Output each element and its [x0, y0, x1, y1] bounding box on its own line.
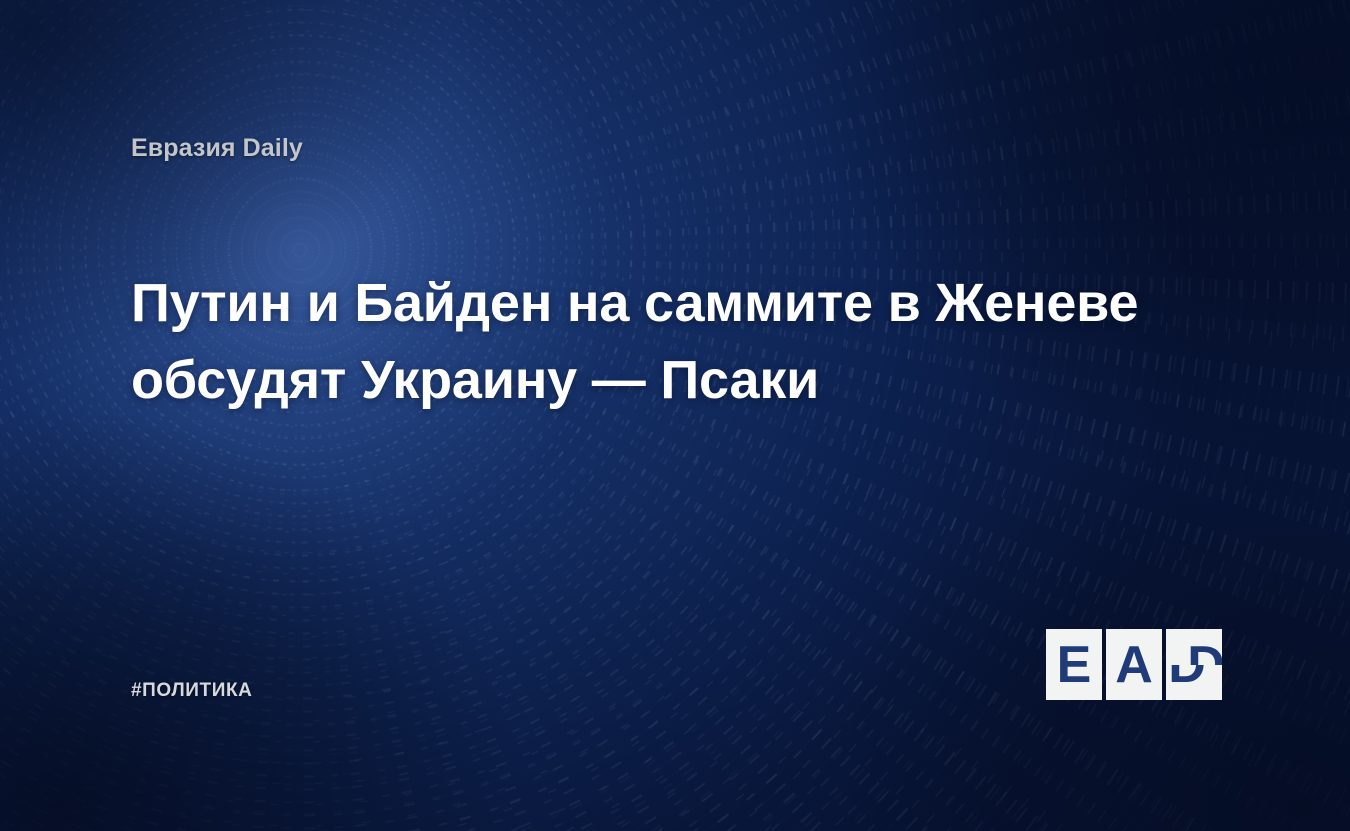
news-share-card: Евразия Daily Путин и Байден на саммите …	[0, 0, 1350, 831]
ead-logo[interactable]: E A D D	[1046, 629, 1223, 700]
headline-line-1: Путин и Байден на саммите в Женеве	[131, 265, 1191, 342]
logo-letter-e: E	[1046, 629, 1102, 700]
brand-name: Евразия Daily	[131, 136, 303, 161]
logo-letter-d-bottom-half: D	[1166, 665, 1222, 701]
category-hashtag[interactable]: #ПОЛИТИКА	[131, 681, 253, 700]
logo-letter-d-top-half: D	[1166, 629, 1222, 665]
logo-letter-d-upper: D	[1178, 629, 1222, 665]
page-title: Путин и Байден на саммите в Женеве обсуд…	[131, 265, 1191, 419]
logo-tile-a: A	[1106, 629, 1162, 700]
headline-line-2: обсудят Украину — Псаки	[131, 342, 1191, 419]
logo-tile-d: D D	[1166, 629, 1222, 700]
logo-letter-d-lower: D	[1166, 665, 1215, 701]
card-content: Евразия Daily Путин и Байден на саммите …	[0, 0, 1350, 831]
logo-letter-a: A	[1106, 629, 1162, 700]
logo-tile-e: E	[1046, 629, 1102, 700]
